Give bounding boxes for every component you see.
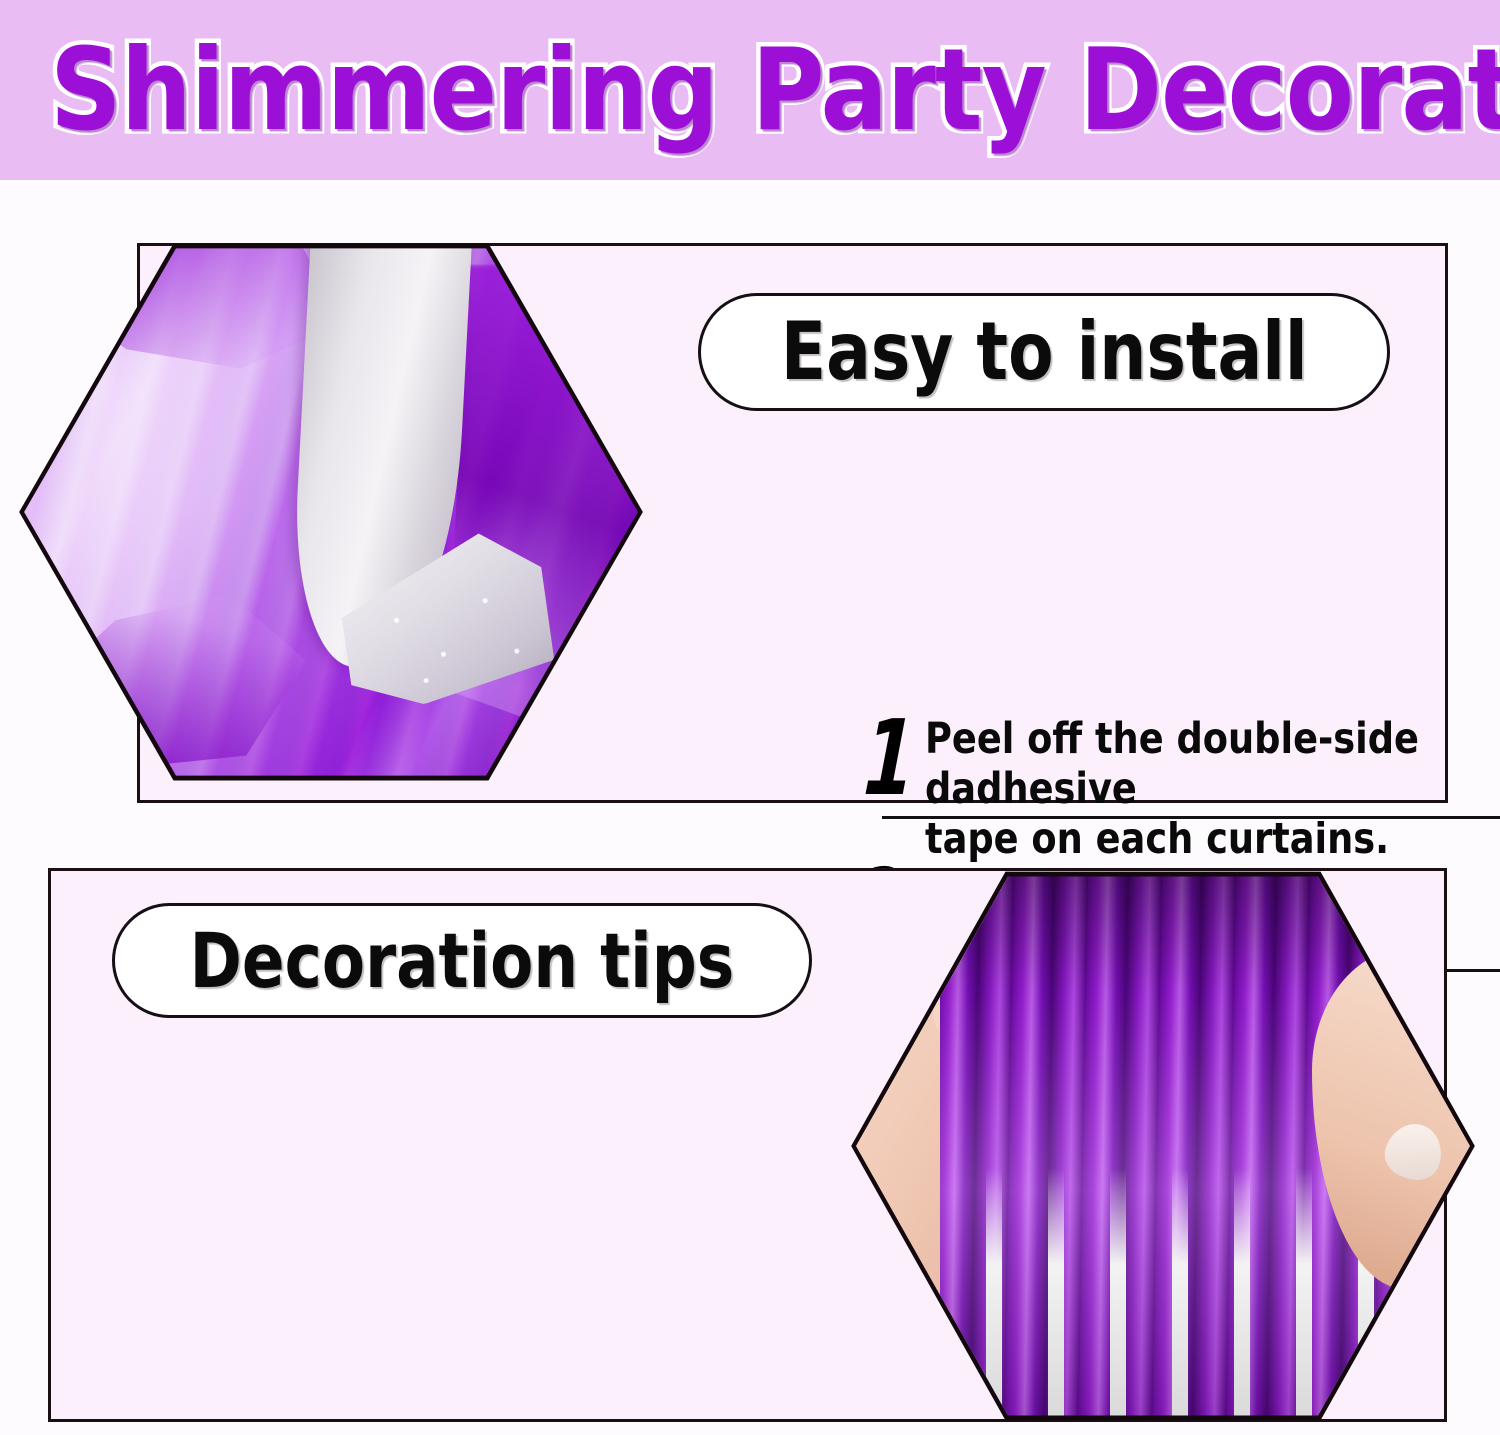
- hand-holding-curtain-photo: [848, 866, 1478, 1426]
- heading-label: Decoration tips: [190, 923, 735, 999]
- step-number: 1: [862, 710, 912, 806]
- decoration-tips-heading: Decoration tips: [112, 903, 812, 1018]
- easy-to-install-heading: Easy to install: [698, 293, 1390, 411]
- hexagon-image-clip: [853, 871, 1473, 1421]
- heading-label: Easy to install: [781, 312, 1308, 392]
- infographic-page: Shimmering Party Decoration 1 Peel off t…: [0, 0, 1500, 1435]
- adhesive-tape-sparkle: [361, 565, 549, 706]
- install-step-1: 1 Peel off the double-side dadhesive tap…: [867, 710, 1445, 864]
- hexagon-image-clip: [21, 243, 641, 781]
- step-divider: [882, 816, 1500, 819]
- page-title: Shimmering Party Decoration: [50, 28, 1432, 152]
- header-banner: Shimmering Party Decoration: [0, 0, 1500, 180]
- step-text: Peel off the double-side dadhesive tape …: [925, 710, 1419, 864]
- adhesive-tape-photo: [16, 238, 646, 786]
